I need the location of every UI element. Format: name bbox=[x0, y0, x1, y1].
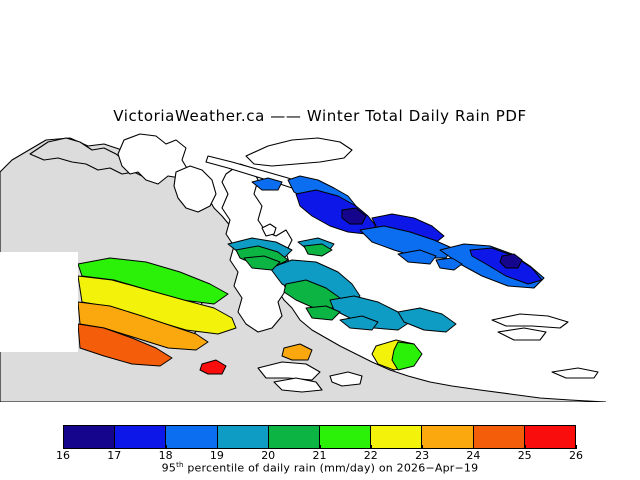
colorbar-segment-7[interactable] bbox=[371, 426, 422, 448]
caption-text: percentile of daily rain (mm/day) on 202… bbox=[184, 462, 479, 475]
colorbar-segment-4[interactable] bbox=[218, 426, 269, 448]
caption-value: 95 bbox=[162, 462, 176, 475]
tick-mark bbox=[422, 445, 423, 449]
tick-mark bbox=[268, 445, 269, 449]
tick-mark bbox=[576, 445, 577, 449]
tick-mark bbox=[473, 445, 474, 449]
map-panel[interactable] bbox=[0, 132, 606, 402]
contour-left-clip bbox=[0, 252, 78, 352]
colorbar-segment-3[interactable] bbox=[166, 426, 217, 448]
tick-mark bbox=[320, 445, 321, 449]
colorbar-segment-10[interactable] bbox=[525, 426, 575, 448]
tick-mark bbox=[63, 445, 64, 449]
colorbar-segment-6[interactable] bbox=[320, 426, 371, 448]
colorbar-caption: 95th percentile of daily rain (mm/day) o… bbox=[0, 461, 640, 475]
colorbar-segment-9[interactable] bbox=[474, 426, 525, 448]
colorbar-segment-2[interactable] bbox=[115, 426, 166, 448]
colorbar-segment-1[interactable] bbox=[64, 426, 115, 448]
tick-mark bbox=[166, 445, 167, 449]
page-title: VictoriaWeather.ca —— Winter Total Daily… bbox=[0, 107, 640, 125]
colorbar-segment-8[interactable] bbox=[422, 426, 473, 448]
screenshot-root: VictoriaWeather.ca —— Winter Total Daily… bbox=[0, 0, 640, 480]
tick-mark bbox=[371, 445, 372, 449]
tick-mark bbox=[114, 445, 115, 449]
precipitation-contour-map[interactable] bbox=[0, 132, 606, 402]
tick-mark bbox=[217, 445, 218, 449]
colorbar-segment-5[interactable] bbox=[269, 426, 320, 448]
caption-ordinal: th bbox=[176, 461, 184, 469]
tick-mark bbox=[525, 445, 526, 449]
